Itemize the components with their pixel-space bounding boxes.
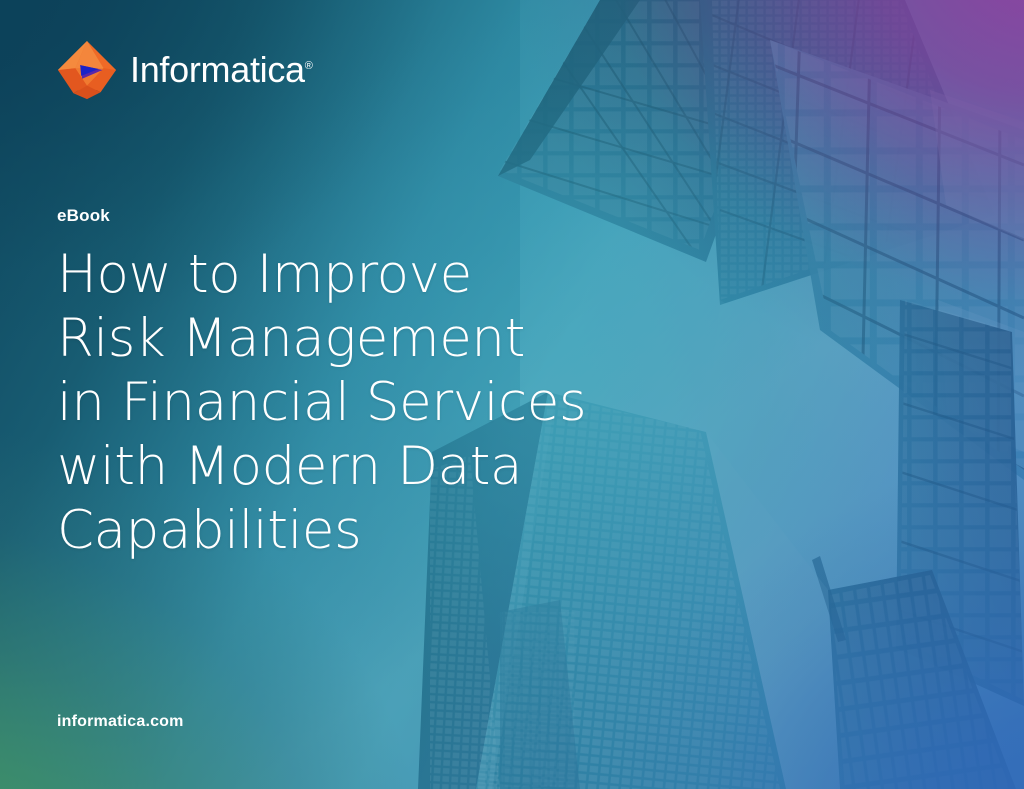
informatica-logo[interactable]: Informatica® <box>56 38 313 102</box>
informatica-wordmark: Informatica® <box>130 52 313 88</box>
wordmark-text: Informatica <box>130 49 305 90</box>
informatica-diamond-icon <box>56 39 118 101</box>
footer-website-url[interactable]: informatica.com <box>57 713 184 731</box>
ebook-cover-page: Informatica® eBook How to Improve Risk M… <box>0 0 1024 789</box>
trademark-symbol: ® <box>305 60 313 72</box>
title-line-4: with Modern Data <box>57 435 677 499</box>
page-title: How to Improve Risk Management in Financ… <box>57 243 677 563</box>
cover-content: Informatica® eBook How to Improve Risk M… <box>0 0 1024 789</box>
title-line-5: Capabilities <box>57 499 677 563</box>
title-line-2: Risk Management <box>57 307 677 371</box>
document-type-label: eBook <box>57 206 110 226</box>
title-line-3: in Financial Services <box>57 371 677 435</box>
title-line-1: How to Improve <box>57 243 677 307</box>
